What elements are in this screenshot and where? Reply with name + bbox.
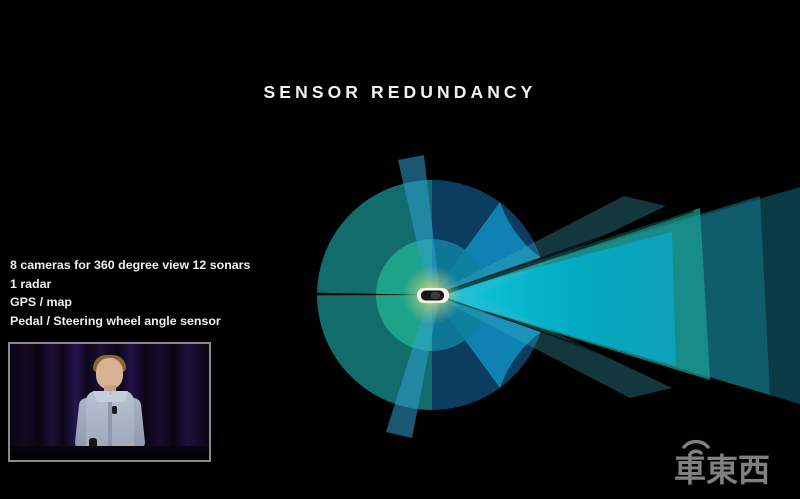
- watermark-text: 車東西: [674, 451, 770, 487]
- sensor-spec-list: 8 cameras for 360 degree view 12 sonars …: [10, 256, 260, 330]
- slide-canvas: SENSOR REDUNDANCY 8 cameras for 360 degr…: [0, 0, 800, 499]
- stage-floor: [10, 446, 209, 460]
- list-item: 1 radar: [10, 275, 260, 294]
- channel-watermark: 車東西: [672, 435, 790, 487]
- lapel-mic-icon: [112, 406, 117, 414]
- list-item: Pedal / Steering wheel angle sensor: [10, 312, 260, 331]
- presenter-video[interactable]: [8, 342, 211, 462]
- page-title: SENSOR REDUNDANCY: [0, 82, 800, 103]
- ego-vehicle: [417, 288, 449, 303]
- list-item: 8 cameras for 360 degree view 12 sonars: [10, 256, 260, 275]
- presenter-collar-right: [107, 391, 127, 402]
- list-item: GPS / map: [10, 293, 260, 312]
